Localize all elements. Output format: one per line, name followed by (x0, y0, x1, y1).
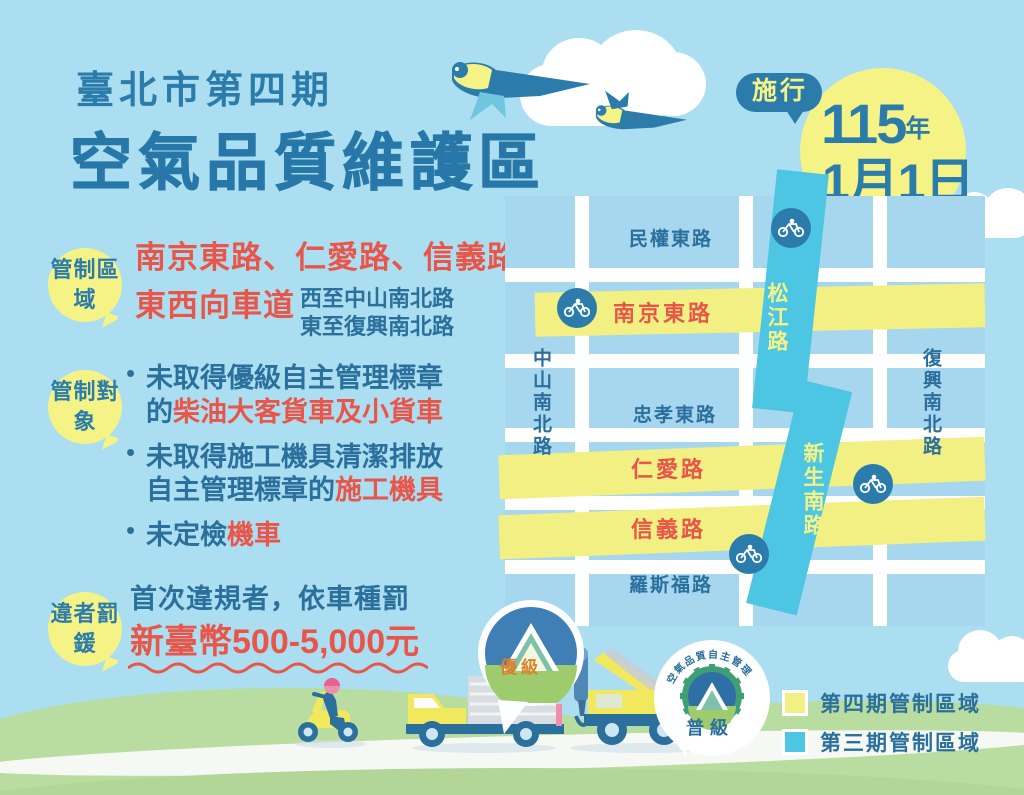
bicycle-icon (771, 208, 811, 248)
tag-control-area: 管制區域 (48, 248, 122, 322)
bicycle-icon (729, 534, 769, 574)
map-label-xinsheng-south-road: 新生南路 (797, 442, 827, 538)
control-area-bounds: 西至中山南北路 東至復興南北路 (300, 285, 454, 340)
map-label-xinyi-road: 信義路 (631, 512, 706, 544)
tag-control-target-label: 管制對象 (50, 379, 119, 434)
legend-label-phase3: 第三期管制區域 (820, 727, 981, 757)
map-legend: 第四期管制區域 第三期管制區域 (782, 688, 981, 766)
penalty-underline-wave (128, 660, 428, 674)
standard-grade-bubble-tail (660, 726, 700, 762)
map-label-songjiang-road: 松江路 (761, 282, 791, 354)
legend-item-phase3: 第三期管制區域 (782, 727, 981, 757)
bullet-3-line-1-blue: 未定檢 (146, 520, 227, 550)
list-item: 未定檢機車 (126, 519, 443, 553)
bicycle-icon (853, 464, 893, 504)
effective-year: 115年 (821, 96, 930, 152)
map-label-roosevelt-road: 羅斯福路 (629, 570, 713, 597)
tag-control-target: 管制對象 (48, 370, 122, 444)
tag-penalty: 違者罰鍰 (48, 592, 122, 666)
penalty-amount: 新臺幣500-5,000元 (130, 622, 419, 662)
control-zone-map: 南京東路 仁愛路 信義路 松江路 新生南路 民權東路 忠孝東路 羅斯福路 中山南… (505, 196, 985, 626)
poster-canvas: 臺北市第四期 空氣品質維護區 施行 115年 1月1日 管制區域 南京東路、仁愛… (0, 0, 1024, 795)
tag-control-area-label: 管制區域 (50, 257, 119, 312)
map-label-nanjing-east-road: 南京東路 (613, 296, 713, 328)
map-label-fuxing-road: 復興南北路 (917, 348, 944, 458)
effective-tag-badge: 施行 (736, 73, 822, 112)
bullet-1-line-2-blue: 的 (146, 397, 173, 427)
scooter-rider-illustration (286, 672, 376, 752)
list-item: 未取得施工機具清潔排放 自主管理標章的施工機具 (126, 441, 443, 509)
map-label-zhongxiao-east-road: 忠孝東路 (633, 400, 717, 427)
effective-year-unit: 年 (905, 115, 930, 143)
legend-swatch-phase3 (782, 729, 808, 755)
control-area-roads: 南京東路、仁愛路、信義路 (135, 240, 519, 277)
tag-penalty-label: 違者罰鍰 (50, 601, 119, 656)
control-area-direction: 東西向車道 (135, 288, 295, 325)
bullet-2-line-2-red: 施工機具 (335, 475, 443, 505)
bullet-3-line-1-red: 機車 (227, 520, 281, 550)
legend-item-phase4: 第四期管制區域 (782, 688, 981, 718)
bullet-2-line-2-blue: 自主管理標章的 (146, 475, 335, 505)
svg-text:空氣品質自主管理: 空氣品質自主管理 (664, 648, 755, 686)
page-title-small: 臺北市第四期 (76, 72, 334, 110)
bullet-1-line-1: 未取得優級自主管理標章 (146, 362, 443, 396)
map-label-zhongshan-road: 中山南北路 (527, 348, 554, 458)
map-label-minquan-east-road: 民權東路 (629, 224, 713, 251)
list-item: 未取得優級自主管理標章 的柴油大客貨車及小貨車 (126, 362, 443, 430)
premium-grade-label: 優級 (500, 653, 542, 678)
bullet-2-line-1: 未取得施工機具清潔排放 (146, 441, 443, 475)
control-target-list: 未取得優級自主管理標章 的柴油大客貨車及小貨車 未取得施工機具清潔排放 自主管理… (126, 362, 443, 564)
effective-year-number: 115 (821, 92, 905, 155)
premium-grade-bubble-tail (494, 700, 534, 740)
penalty-description: 首次違規者，依車種罰 (130, 584, 410, 616)
map-label-renai-road: 仁愛路 (631, 452, 706, 484)
control-area-bound-west: 西至中山南北路 (300, 285, 454, 313)
legend-label-phase4: 第四期管制區域 (820, 688, 981, 718)
legend-swatch-phase4 (782, 690, 808, 716)
bicycle-icon (557, 288, 597, 328)
control-area-bound-east: 東至復興南北路 (300, 313, 454, 341)
page-title-main: 空氣品質維護區 (70, 133, 546, 195)
bullet-1-line-2-red: 柴油大客貨車及小貨車 (173, 397, 443, 427)
